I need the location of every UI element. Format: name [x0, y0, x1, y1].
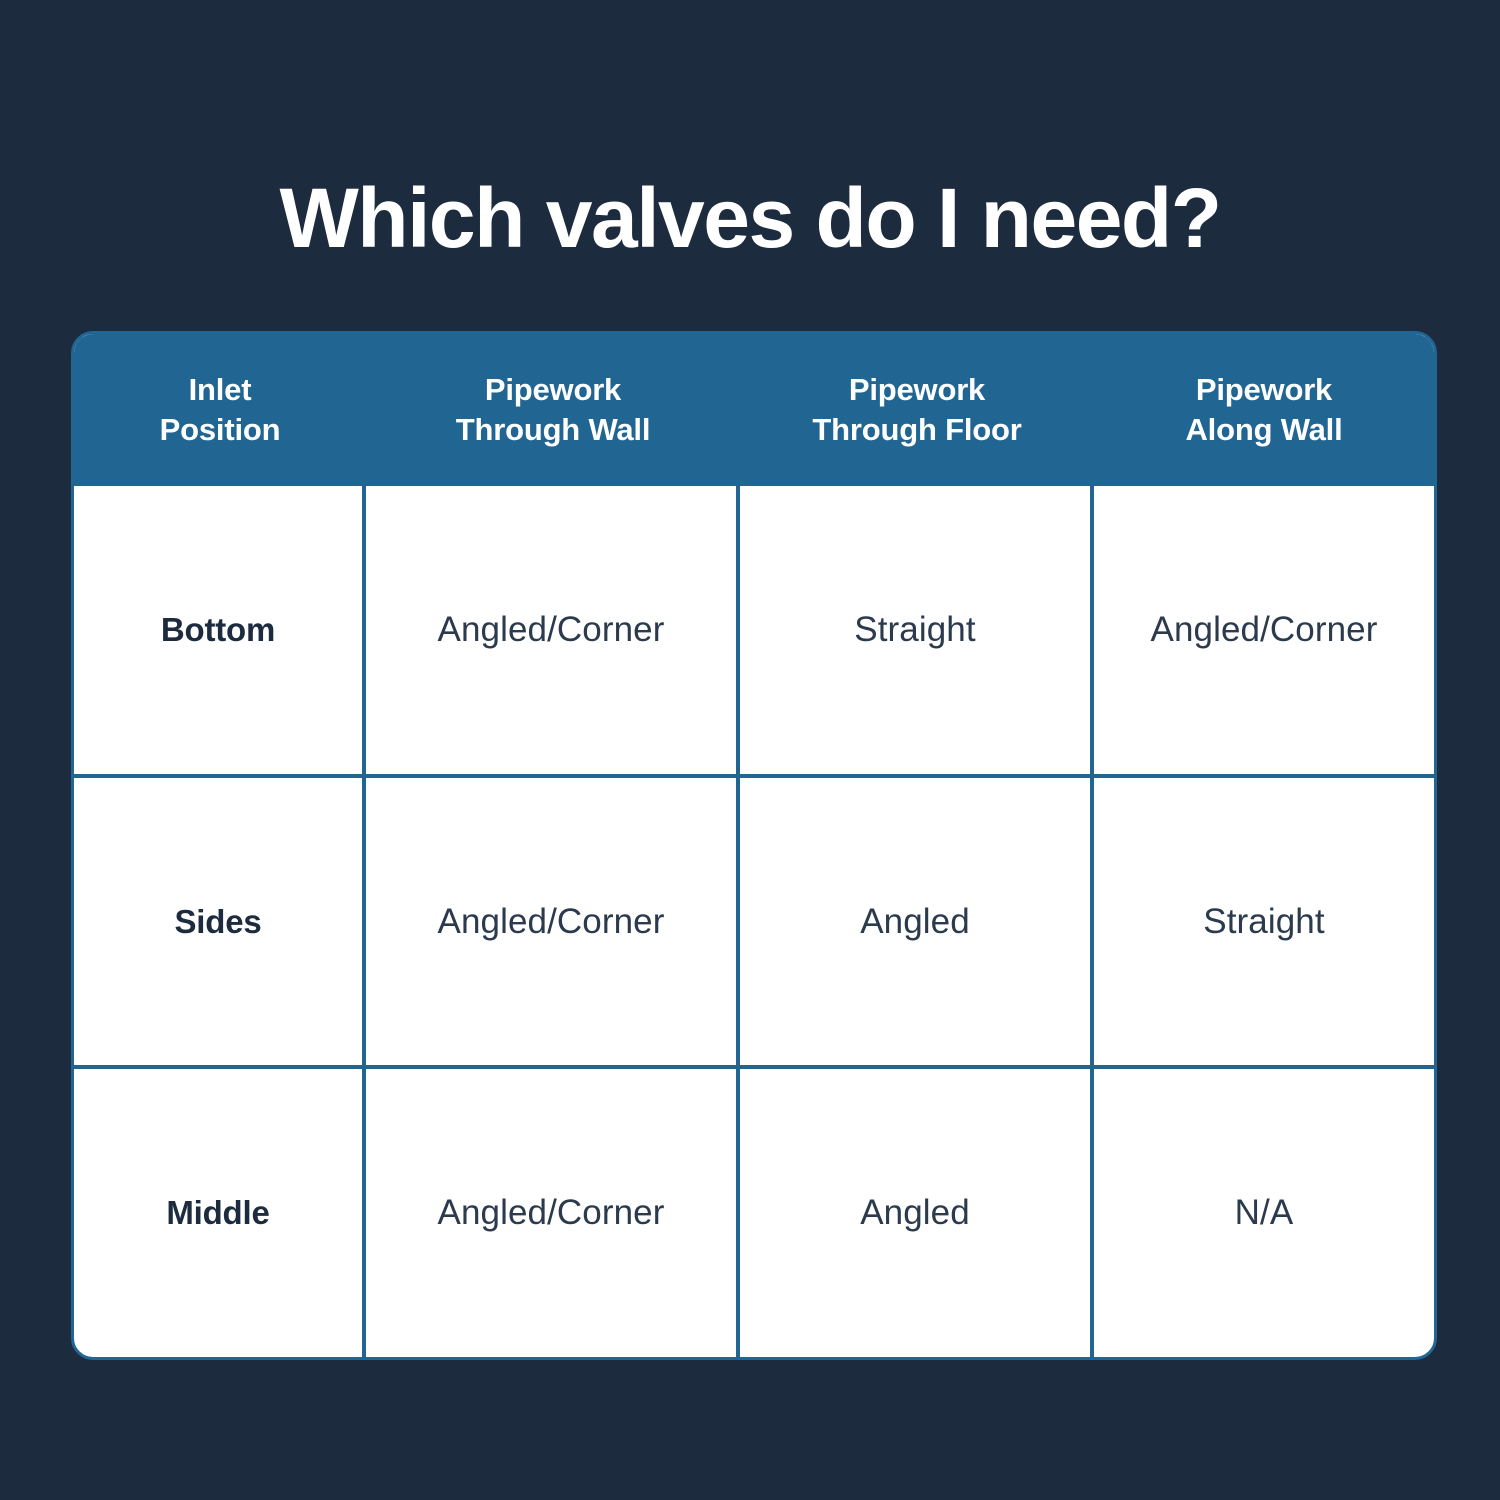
- cell-bottom-through-floor: Straight: [740, 486, 1094, 774]
- cell-middle-along-wall: N/A: [1094, 1069, 1434, 1357]
- cell-bottom-along-wall: Angled/Corner: [1094, 486, 1434, 774]
- column-header-line-2: Through Floor: [812, 410, 1021, 450]
- cell-sides-along-wall: Straight: [1094, 778, 1434, 1066]
- row-header-bottom: Bottom: [74, 486, 366, 774]
- column-header-pipework-along-wall: Pipework Along Wall: [1094, 334, 1434, 486]
- column-header-line-1: Pipework: [1186, 370, 1343, 410]
- column-header-pipework-through-floor: Pipework Through Floor: [740, 334, 1094, 486]
- page-title: Which valves do I need?: [0, 174, 1500, 262]
- row-header-sides: Sides: [74, 778, 366, 1066]
- table-row: Bottom Angled/Corner Straight Angled/Cor…: [74, 486, 1434, 778]
- infographic-page: Which valves do I need? Inlet Position P…: [0, 0, 1500, 1500]
- column-header-line-2: Through Wall: [456, 410, 650, 450]
- table-header-row: Inlet Position Pipework Through Wall Pip…: [74, 334, 1434, 486]
- column-header-pipework-through-wall: Pipework Through Wall: [366, 334, 740, 486]
- valve-selection-table: Inlet Position Pipework Through Wall Pip…: [71, 331, 1437, 1360]
- column-header-line-2: Along Wall: [1186, 410, 1343, 450]
- column-header-line-2: Position: [160, 410, 281, 450]
- cell-bottom-through-wall: Angled/Corner: [366, 486, 740, 774]
- table-body: Bottom Angled/Corner Straight Angled/Cor…: [74, 486, 1434, 1357]
- cell-sides-through-wall: Angled/Corner: [366, 778, 740, 1066]
- column-header-line-1: Inlet: [160, 370, 281, 410]
- column-header-line-1: Pipework: [812, 370, 1021, 410]
- column-header-inlet-position: Inlet Position: [74, 334, 366, 486]
- cell-middle-through-floor: Angled: [740, 1069, 1094, 1357]
- table-row: Middle Angled/Corner Angled N/A: [74, 1069, 1434, 1357]
- column-header-line-1: Pipework: [456, 370, 650, 410]
- row-header-middle: Middle: [74, 1069, 366, 1357]
- cell-sides-through-floor: Angled: [740, 778, 1094, 1066]
- cell-middle-through-wall: Angled/Corner: [366, 1069, 740, 1357]
- table-row: Sides Angled/Corner Angled Straight: [74, 778, 1434, 1070]
